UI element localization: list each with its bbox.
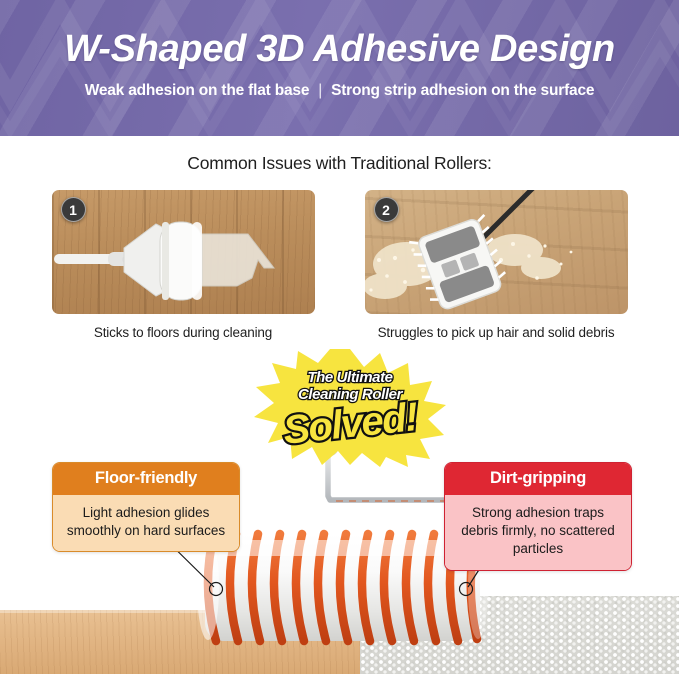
header-subtitle: Weak adhesion on the flat base | Strong …	[85, 82, 595, 100]
roller-illustration-1	[52, 190, 315, 314]
subtitle-left-text: Weak adhesion on the flat base	[85, 82, 310, 100]
burst-solved-text: Solved!	[281, 397, 418, 451]
feature-body-floor-friendly: Light adhesion glides smoothly on hard s…	[53, 495, 239, 551]
issue-caption-2: Struggles to pick up hair and solid debr…	[365, 325, 628, 340]
feature-title-dirt-gripping: Dirt-gripping	[445, 463, 631, 495]
header-banner: W-Shaped 3D Adhesive Design Weak adhesio…	[0, 0, 679, 136]
infographic-page: W-Shaped 3D Adhesive Design Weak adhesio…	[0, 0, 679, 679]
issues-section-title: Common Issues with Traditional Rollers:	[0, 153, 679, 174]
solved-starburst-badge: The Ultimate Cleaning Roller Solved!	[252, 347, 448, 467]
issues-row: 1 Sticks to floors during	[0, 190, 679, 340]
subtitle-right-text: Strong strip adhesion on the surface	[331, 82, 594, 100]
product-stage: Floor-friendly Light adhesion glides smo…	[0, 344, 679, 674]
feature-box-dirt-gripping: Dirt-gripping Strong adhesion traps debr…	[444, 462, 632, 571]
mop-illustration-2	[365, 190, 628, 314]
issue-caption-1: Sticks to floors during cleaning	[52, 325, 315, 340]
feature-title-floor-friendly: Floor-friendly	[53, 463, 239, 495]
subtitle-separator: |	[318, 82, 322, 100]
page-title: W-Shaped 3D Adhesive Design	[64, 30, 615, 70]
issue-item: 2	[365, 190, 628, 340]
issue-badge-2: 2	[374, 197, 399, 222]
feature-box-floor-friendly: Floor-friendly Light adhesion glides smo…	[52, 462, 240, 552]
feature-body-dirt-gripping: Strong adhesion traps debris firmly, no …	[445, 495, 631, 570]
issue-photo-2: 2	[365, 190, 628, 314]
issue-item: 1 Sticks to floors during	[52, 190, 315, 340]
issue-badge-1: 1	[61, 197, 86, 222]
burst-line-1: The Ultimate	[307, 370, 392, 387]
issue-photo-1: 1	[52, 190, 315, 314]
